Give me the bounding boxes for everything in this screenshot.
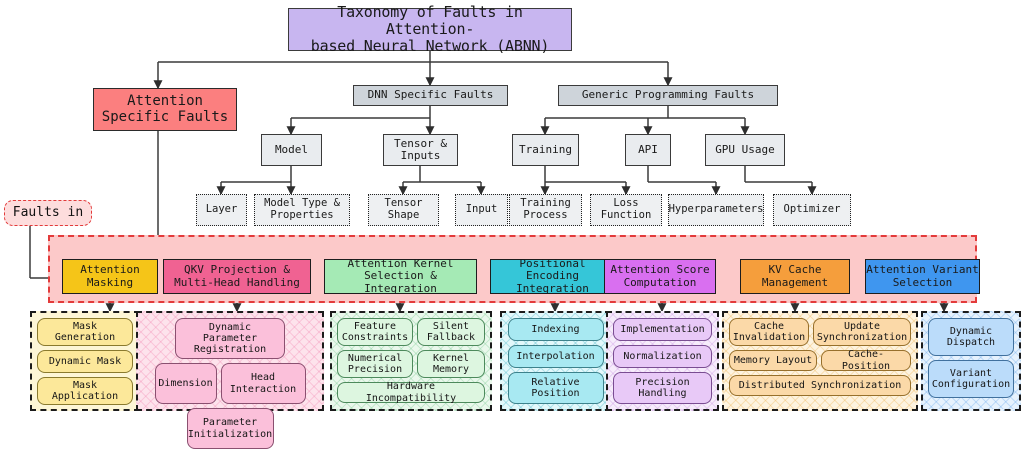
node-taxonomy-title: Taxonomy of Faults in Attention- based N… [288,8,572,51]
category-kv-cache[interactable]: KV Cache Management [740,259,850,294]
leaf-optimizer: Optimizer [773,194,851,226]
pill-cache-invalidation[interactable]: Cache Invalidation [729,318,809,346]
cluster-positional-encoding: Indexing Interpolation Relative Position [500,311,611,411]
pill-mask-generation[interactable]: Mask Generation [37,318,133,346]
node-generic-programming-faults: Generic Programming Faults [558,85,778,106]
cluster-attention-variant: Dynamic Dispatch Variant Configuration [921,311,1021,411]
pill-implementation[interactable]: Implementation [613,318,712,341]
pill-numerical-precision[interactable]: Numerical Precision [337,350,413,378]
node-model: Model [261,134,322,166]
pill-mask-application[interactable]: Mask Application [37,377,133,405]
node-dnn-specific-faults: DNN Specific Faults [353,85,508,106]
category-attention-score[interactable]: Attention Score Computation [604,259,716,294]
node-attention-specific-faults: Attention Specific Faults [93,88,237,131]
pill-head-interaction[interactable]: Head Interaction [221,363,306,404]
leaf-training-process: Training Process [509,194,582,226]
faults-in-tag: Faults in [4,200,92,226]
node-training: Training [512,134,579,166]
node-api: API [625,134,671,166]
category-attention-variant[interactable]: Attention Variant Selection [865,259,980,294]
node-gpu-usage: GPU Usage [705,134,785,166]
node-tensor-inputs: Tensor & Inputs [383,134,458,166]
pill-dynamic-mask[interactable]: Dynamic Mask [37,350,133,373]
pill-dynamic-dispatch[interactable]: Dynamic Dispatch [928,318,1014,356]
pill-variant-configuration[interactable]: Variant Configuration [928,360,1014,398]
cluster-attention-masking: Mask Generation Dynamic Mask Mask Applic… [30,311,140,411]
pill-normalization[interactable]: Normalization [613,345,712,368]
pill-dimension[interactable]: Dimension [155,363,217,404]
leaf-input: Input [455,194,508,226]
pill-interpolation[interactable]: Interpolation [508,345,604,368]
pill-precision-handling[interactable]: Precision Handling [613,372,712,404]
pill-distributed-synchronization[interactable]: Distributed Synchronization [729,375,911,396]
taxonomy-diagram: Taxonomy of Faults in Attention- based N… [0,0,1024,417]
pill-parameter-initialization[interactable]: Parameter Initialization [187,408,274,449]
pill-dynamic-parameter-registration[interactable]: Dynamic Parameter Registration [175,318,285,359]
cluster-qkv-projection: Dynamic Parameter Registration Dimension… [136,311,324,411]
pill-hardware-incompatibility[interactable]: Hardware Incompatibility [337,382,485,403]
category-positional-encoding[interactable]: Positional Encoding Integration [490,259,615,294]
category-qkv-projection[interactable]: QKV Projection & Multi-Head Handling [163,259,311,294]
leaf-model-type-properties: Model Type & Properties [254,194,350,226]
pill-kernel-memory[interactable]: Kernel Memory [417,350,485,378]
leaf-layer: Layer [196,194,247,226]
pill-update-synchronization[interactable]: Update Synchronization [813,318,911,346]
cluster-kv-cache: Cache Invalidation Update Synchronizatio… [722,311,918,411]
pill-memory-layout[interactable]: Memory Layout [729,350,817,371]
leaf-hyperparameters: Hyperparameters [668,194,764,226]
category-attention-masking[interactable]: Attention Masking [62,259,158,294]
leaf-tensor-shape: Tensor Shape [368,194,439,226]
leaf-loss-function: Loss Function [590,194,662,226]
category-attention-kernel[interactable]: Attention Kernel Selection & Integration [324,259,477,294]
pill-indexing[interactable]: Indexing [508,318,604,341]
pill-relative-position[interactable]: Relative Position [508,372,604,404]
pill-silent-fallback[interactable]: Silent Fallback [417,318,485,346]
pill-feature-constraints[interactable]: Feature Constraints [337,318,413,346]
pill-cache-position[interactable]: Cache-Position [821,350,911,371]
cluster-attention-kernel: Feature Constraints Silent Fallback Nume… [330,311,492,411]
cluster-attention-score: Implementation Normalization Precision H… [606,311,719,411]
